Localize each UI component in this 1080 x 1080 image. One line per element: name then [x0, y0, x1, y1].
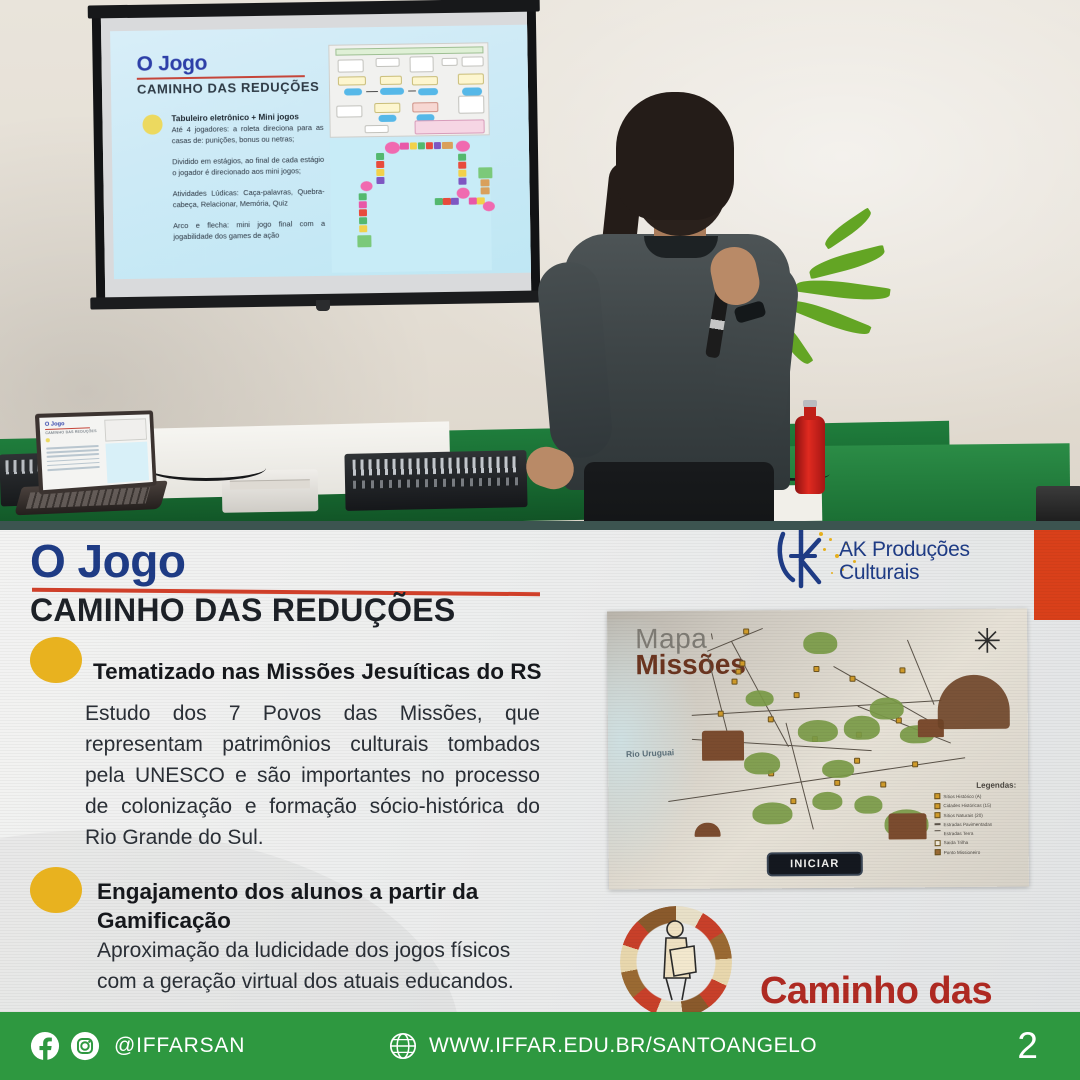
slide-page: O Jogo CAMINHO DAS REDUÇÕES Tabuleiro el… — [0, 0, 1080, 1080]
projected-paragraph-3: Atividades Lúdicas: Caça-palavras, Quebr… — [173, 187, 325, 211]
diagram-banner — [335, 46, 483, 55]
legend-item: Sítios Naturais (20) — [943, 812, 982, 817]
screen-canvas: O Jogo CAMINHO DAS REDUÇÕES Tabuleiro el… — [101, 11, 531, 300]
legend-item: Cidades Históricas (15) — [943, 803, 991, 808]
map-church-illustration — [937, 675, 1009, 730]
laptop-diagram-thumb — [104, 418, 147, 441]
projected-paragraph-1: Até 4 jogadores: a roleta direciona para… — [172, 123, 324, 147]
bullet-1-dot — [30, 637, 82, 683]
bullet-2-heading: Engajamento dos alunos a partir da Gamif… — [97, 878, 497, 936]
map-river-label: Rio Uruguai — [626, 747, 675, 759]
legend-item: Estradas Pavimentadas — [944, 821, 993, 826]
website-url[interactable]: WWW.IFFAR.EDU.BR/SANTOANGELO — [429, 1034, 817, 1058]
screen-center-mount — [316, 300, 330, 311]
projected-game-board — [330, 137, 492, 272]
projected-slide: O Jogo CAMINHO DAS REDUÇÕES Tabuleiro el… — [110, 25, 531, 280]
map-legend-title: Legendas: — [976, 781, 1016, 790]
map-title-line2: Missões — [635, 649, 746, 682]
bullet-2-text: Aproximação da ludicidade dos jogos físi… — [97, 935, 537, 997]
waste-bin — [1036, 486, 1080, 521]
bullet-1-heading: Tematizado nas Missões Jesuíticas do RS — [93, 658, 541, 687]
projector-screen: O Jogo CAMINHO DAS REDUÇÕES Tabuleiro el… — [94, 0, 539, 305]
projected-flow-diagram — [328, 42, 489, 138]
website-link[interactable]: WWW.IFFAR.EDU.BR/SANTOANGELO — [388, 1031, 817, 1061]
facebook-icon[interactable] — [30, 1031, 60, 1061]
laptop: O Jogo CAMINHO DAS REDUÇÕES — [18, 412, 166, 512]
globe-icon — [388, 1031, 418, 1061]
legend-item: Ponto Missioneiro — [944, 849, 981, 854]
presenter — [520, 92, 820, 521]
audio-mixer-center — [344, 450, 527, 511]
section-divider — [0, 521, 1080, 530]
corner-accent-block — [1034, 530, 1080, 620]
projected-paragraph-2: Dividido em estágios, ao final de cada e… — [172, 155, 324, 179]
legend-item: Saída Trilha — [944, 840, 969, 845]
legend-item: Sítios Histórico (A) — [943, 793, 981, 798]
map-compass-icon: ✳ — [969, 625, 1005, 661]
social-handle[interactable]: @IFFARSAN — [114, 1034, 245, 1058]
presenter-hair — [616, 92, 734, 220]
iniciar-button[interactable]: INICIAR — [767, 852, 863, 877]
projected-slide-subtitle: CAMINHO DAS REDUÇÕES — [137, 79, 320, 97]
projected-paragraph-4: Arco e flecha: mini jogo final com a jog… — [173, 219, 325, 243]
instagram-icon[interactable] — [70, 1031, 100, 1061]
slide-title: O Jogo — [30, 534, 185, 588]
caminho-das-reducoes-logo: Caminho das — [610, 904, 1050, 1012]
jesuit-figure-icon — [656, 920, 700, 1002]
presenter-collar — [644, 236, 718, 258]
bullet-2-dot — [30, 867, 82, 913]
ak-logo-line2: Culturais — [839, 561, 970, 584]
ak-logo-text: AK Produções Culturais — [839, 538, 970, 584]
page-number: 2 — [1017, 1025, 1038, 1067]
page-footer: @IFFARSAN WWW.IFFAR.EDU.BR/SANTOANGELO 2 — [0, 1012, 1080, 1080]
mixer-knobs — [353, 477, 519, 488]
presenter-trousers — [584, 462, 774, 521]
slide-subtitle: CAMINHO DAS REDUÇÕES — [30, 592, 456, 629]
bullet-1-text: Estudo dos 7 Povos das Missões, que repr… — [85, 698, 540, 853]
projected-bullet-lead: Tabuleiro eletrônico + Mini jogos — [171, 112, 321, 123]
legend-item: Estradas Terra — [944, 830, 974, 835]
ak-logo-line1: AK Produções — [839, 538, 970, 561]
social-links[interactable]: @IFFARSAN — [30, 1031, 245, 1061]
presentation-photo: O Jogo CAMINHO DAS REDUÇÕES Tabuleiro el… — [0, 0, 1080, 521]
laptop-mini-slide: O Jogo CAMINHO DAS REDUÇÕES — [39, 414, 153, 490]
mixer-faders — [353, 456, 519, 475]
laptop-screen: O Jogo CAMINHO DAS REDUÇÕES — [35, 410, 157, 494]
projected-bullet-dot — [142, 114, 162, 134]
laptop-bullet-dot — [46, 438, 50, 442]
slide-content: O Jogo CAMINHO DAS REDUÇÕES Tematizado n… — [0, 530, 1080, 1012]
projected-slide-title: O Jogo — [136, 52, 207, 77]
ak-producoes-logo: AK Produções Culturais — [775, 530, 1025, 598]
caminho-logo-text: Caminho das — [760, 970, 992, 1012]
laptop-board-thumb — [105, 442, 149, 484]
mapa-missoes-card[interactable]: Mapa Missões Rio Uruguai — [607, 609, 1029, 890]
map-legend: Sítios Histórico (A) Cidades Históricas … — [934, 793, 1019, 866]
